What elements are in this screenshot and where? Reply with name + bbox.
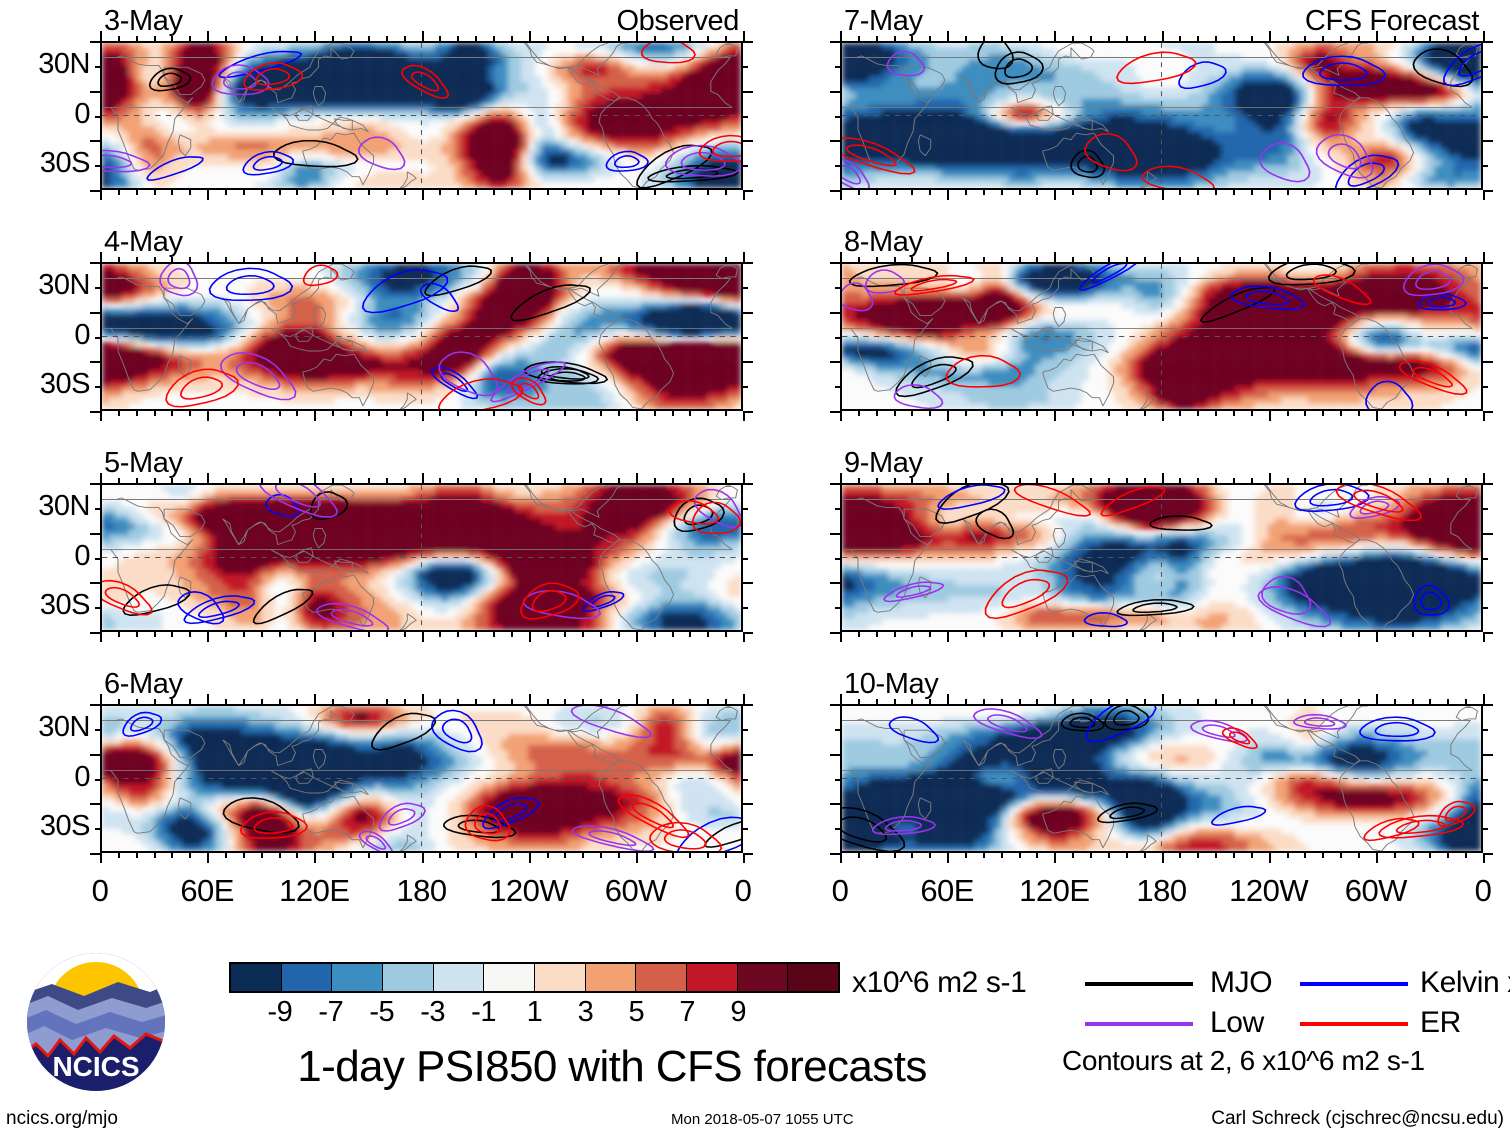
figure-title: 1-day PSI850 with CFS forecasts [212, 1042, 1012, 1092]
x-tick [582, 853, 584, 858]
x-tick [1179, 478, 1181, 483]
x-tick [929, 853, 931, 858]
x-tick [1144, 853, 1146, 858]
x-tick [564, 853, 566, 858]
x-tick [672, 190, 674, 195]
x-tick [1054, 632, 1056, 642]
x-tick [368, 699, 370, 704]
x-tick [1251, 853, 1253, 858]
x-tick [1483, 694, 1485, 704]
x-tick [1233, 478, 1235, 483]
y-tick [90, 312, 100, 314]
x-tick [1447, 699, 1449, 704]
x-tick [154, 632, 156, 637]
colorbar-segment [231, 964, 282, 991]
y-axis-tick-label: 0 [0, 540, 90, 573]
x-tick [1179, 699, 1181, 704]
x-tick [1394, 36, 1396, 41]
x-axis-tick-label: 120W [469, 873, 589, 909]
x-tick [840, 252, 842, 262]
x-tick [1394, 257, 1396, 262]
x-tick [947, 31, 949, 41]
x-tick [911, 853, 913, 858]
y-tick [1483, 41, 1493, 43]
x-tick [350, 478, 352, 483]
x-tick [689, 36, 691, 41]
x-tick [1465, 257, 1467, 262]
x-tick [1179, 853, 1181, 858]
x-tick [207, 853, 209, 863]
x-tick [1376, 694, 1378, 704]
x-tick [636, 190, 638, 200]
x-tick [136, 632, 138, 637]
x-tick [1287, 632, 1289, 637]
x-tick [422, 252, 424, 262]
map-panel [840, 704, 1483, 853]
x-tick [707, 411, 709, 416]
x-tick [1429, 853, 1431, 858]
x-tick [1197, 853, 1199, 858]
y-tick [90, 411, 100, 413]
y-tick [95, 337, 100, 339]
x-tick [243, 411, 245, 416]
x-tick [1322, 699, 1324, 704]
x-tick [1233, 853, 1235, 858]
y-tick [743, 262, 753, 264]
x-tick [1126, 411, 1128, 416]
x-tick [582, 257, 584, 262]
x-tick [189, 257, 191, 262]
y-axis-tick-label: 0 [0, 319, 90, 352]
x-tick [1197, 632, 1199, 637]
x-tick [672, 853, 674, 858]
x-tick [332, 853, 334, 858]
x-tick [100, 853, 102, 863]
x-tick [983, 632, 985, 637]
x-tick [1465, 36, 1467, 41]
colorbar-segment [586, 964, 637, 991]
y-tick [1483, 508, 1488, 510]
x-tick [947, 411, 949, 421]
x-tick [1001, 257, 1003, 262]
y-tick [835, 607, 840, 609]
y-tick [835, 779, 840, 781]
x-tick [1394, 190, 1396, 195]
x-tick [422, 411, 424, 421]
y-tick [95, 66, 100, 68]
x-tick [261, 411, 263, 416]
x-tick [439, 632, 441, 637]
x-tick [929, 478, 931, 483]
x-tick [1322, 257, 1324, 262]
x-tick [725, 190, 727, 195]
x-tick [1304, 36, 1306, 41]
x-tick [332, 411, 334, 416]
x-tick [350, 853, 352, 858]
x-tick [689, 257, 691, 262]
x-tick [457, 478, 459, 483]
y-tick [1483, 287, 1488, 289]
y-tick [743, 729, 748, 731]
x-tick [368, 411, 370, 416]
x-tick [600, 36, 602, 41]
x-tick [100, 252, 102, 262]
y-tick [90, 262, 100, 264]
y-tick [1483, 632, 1493, 634]
x-tick [1108, 853, 1110, 858]
x-tick [511, 478, 513, 483]
x-tick [1036, 853, 1038, 858]
y-tick [95, 508, 100, 510]
x-tick [475, 36, 477, 41]
x-tick [1269, 252, 1271, 262]
x-tick [547, 699, 549, 704]
x-tick [118, 257, 120, 262]
x-tick [136, 853, 138, 858]
x-tick [439, 478, 441, 483]
x-tick [965, 853, 967, 858]
x-tick [911, 36, 913, 41]
x-tick [894, 478, 896, 483]
x-tick [725, 632, 727, 637]
x-tick [1376, 632, 1378, 642]
y-tick [1483, 66, 1488, 68]
x-tick [296, 632, 298, 637]
x-tick [1072, 853, 1074, 858]
x-tick [1269, 694, 1271, 704]
x-tick [1412, 699, 1414, 704]
colorbar-segment [484, 964, 535, 991]
y-tick [1483, 262, 1493, 264]
x-tick [1215, 478, 1217, 483]
x-tick [725, 36, 727, 41]
x-tick [511, 190, 513, 195]
x-tick [1322, 190, 1324, 195]
panel-date-label: 7-May [844, 5, 923, 38]
x-tick [511, 411, 513, 416]
y-tick [830, 140, 840, 142]
x-tick [1358, 478, 1360, 483]
x-tick [457, 36, 459, 41]
x-axis-tick-label: 120E [254, 873, 374, 909]
y-tick [743, 558, 748, 560]
x-tick [1465, 190, 1467, 195]
x-tick [422, 853, 424, 863]
x-tick [1019, 411, 1021, 416]
footer-url[interactable]: ncics.org/mjo [6, 1108, 118, 1130]
y-tick [743, 607, 748, 609]
x-tick [547, 190, 549, 195]
x-tick [983, 853, 985, 858]
x-tick [189, 36, 191, 41]
x-tick [207, 694, 209, 704]
legend-line-swatch [1085, 1022, 1193, 1026]
x-tick [689, 632, 691, 637]
x-tick [1054, 473, 1056, 483]
colorbar-tick-label: 9 [698, 996, 778, 1029]
y-tick [90, 483, 100, 485]
x-tick [618, 257, 620, 262]
x-tick [171, 478, 173, 483]
x-tick [279, 36, 281, 41]
x-tick [672, 257, 674, 262]
x-tick [1304, 190, 1306, 195]
x-tick [1001, 190, 1003, 195]
x-tick [493, 411, 495, 416]
y-tick [1483, 754, 1493, 756]
x-tick [600, 411, 602, 416]
colorbar-segment [332, 964, 383, 991]
x-tick [1036, 36, 1038, 41]
x-tick [840, 31, 842, 41]
x-tick [689, 411, 691, 416]
x-tick [386, 853, 388, 858]
x-tick [296, 190, 298, 195]
x-tick [1054, 190, 1056, 200]
x-tick [1376, 473, 1378, 483]
x-tick [840, 694, 842, 704]
y-tick [90, 853, 100, 855]
x-axis-tick-label: 0 [780, 873, 900, 909]
x-tick [296, 853, 298, 858]
x-tick [171, 853, 173, 858]
x-tick [422, 694, 424, 704]
y-tick [830, 190, 840, 192]
y-tick [95, 386, 100, 388]
x-tick [529, 190, 531, 200]
x-tick [858, 190, 860, 195]
y-tick [830, 262, 840, 264]
x-tick [1019, 632, 1021, 637]
x-tick [189, 853, 191, 858]
x-tick [1126, 190, 1128, 195]
x-tick [386, 36, 388, 41]
x-tick [332, 632, 334, 637]
x-tick [1376, 190, 1378, 200]
x-tick [1304, 853, 1306, 858]
y-tick [830, 582, 840, 584]
x-tick [332, 699, 334, 704]
x-tick [279, 632, 281, 637]
x-tick [725, 853, 727, 858]
y-tick [95, 287, 100, 289]
x-tick [1447, 853, 1449, 858]
legend-line-swatch [1300, 982, 1408, 986]
x-tick [1001, 853, 1003, 858]
x-tick [564, 632, 566, 637]
x-tick [1340, 632, 1342, 637]
x-tick [1233, 411, 1235, 416]
x-tick [475, 257, 477, 262]
x-tick [858, 699, 860, 704]
x-tick [1090, 190, 1092, 195]
x-tick [618, 699, 620, 704]
x-tick [1108, 411, 1110, 416]
x-tick [1269, 853, 1271, 863]
x-tick [840, 632, 842, 642]
x-tick [1251, 190, 1253, 195]
x-tick [1269, 473, 1271, 483]
y-tick [90, 632, 100, 634]
y-tick [95, 116, 100, 118]
x-tick [911, 190, 913, 195]
x-tick [858, 36, 860, 41]
x-tick [136, 411, 138, 416]
x-tick [1287, 699, 1289, 704]
x-tick [368, 478, 370, 483]
x-tick [929, 257, 931, 262]
x-tick [404, 36, 406, 41]
x-axis-tick-label: 180 [1102, 873, 1222, 909]
x-tick [1090, 257, 1092, 262]
x-tick [243, 190, 245, 195]
x-tick [1429, 190, 1431, 195]
x-tick [261, 36, 263, 41]
y-tick [1483, 483, 1493, 485]
x-tick [707, 190, 709, 195]
x-tick [100, 473, 102, 483]
x-tick [1019, 853, 1021, 858]
x-tick [207, 31, 209, 41]
x-tick [404, 411, 406, 416]
x-tick [582, 190, 584, 195]
panel-date-label: 6-May [104, 668, 183, 701]
x-tick [689, 853, 691, 858]
x-tick [1144, 478, 1146, 483]
x-tick [529, 853, 531, 863]
x-tick [1233, 36, 1235, 41]
x-tick [1251, 632, 1253, 637]
y-tick [95, 779, 100, 781]
x-tick [618, 190, 620, 195]
x-tick [1394, 699, 1396, 704]
x-tick [600, 190, 602, 195]
y-axis-tick-label: 0 [0, 761, 90, 794]
x-tick [225, 36, 227, 41]
y-tick [743, 287, 748, 289]
x-tick [1054, 31, 1056, 41]
x-tick [1340, 36, 1342, 41]
ncics-logo-graphic: NCICS [22, 948, 170, 1096]
x-tick [404, 478, 406, 483]
x-tick [1269, 31, 1271, 41]
x-tick [1394, 853, 1396, 858]
x-tick [1429, 36, 1431, 41]
x-tick [314, 473, 316, 483]
y-tick [743, 312, 753, 314]
x-tick [332, 36, 334, 41]
ncics-logo: NCICS [22, 948, 170, 1096]
x-tick [911, 478, 913, 483]
x-tick [136, 478, 138, 483]
x-tick [547, 257, 549, 262]
x-tick [1108, 699, 1110, 704]
x-tick [600, 478, 602, 483]
y-tick [830, 632, 840, 634]
x-tick [876, 478, 878, 483]
x-tick [118, 478, 120, 483]
y-axis-tick-label: 30S [0, 810, 90, 843]
x-tick [207, 473, 209, 483]
x-tick [1251, 478, 1253, 483]
x-tick [1287, 853, 1289, 858]
x-tick [618, 478, 620, 483]
y-tick [1483, 190, 1493, 192]
y-tick [743, 66, 748, 68]
y-tick [743, 386, 748, 388]
x-tick [189, 478, 191, 483]
y-tick [90, 533, 100, 535]
x-tick [1287, 411, 1289, 416]
y-tick [743, 483, 753, 485]
x-tick [1162, 190, 1164, 200]
x-tick [1304, 632, 1306, 637]
footer-timestamp: Mon 2018-05-07 1055 UTC [671, 1111, 854, 1128]
x-tick [965, 632, 967, 637]
x-tick [1447, 257, 1449, 262]
x-tick [154, 853, 156, 858]
y-tick [743, 632, 753, 634]
x-tick [965, 257, 967, 262]
x-tick [1483, 473, 1485, 483]
y-tick [1483, 828, 1488, 830]
panel-date-label: 10-May [844, 668, 938, 701]
x-tick [493, 190, 495, 195]
x-tick [1001, 36, 1003, 41]
x-tick [1322, 853, 1324, 858]
x-tick [1036, 190, 1038, 195]
x-tick [1108, 190, 1110, 195]
x-tick [894, 699, 896, 704]
x-tick [511, 257, 513, 262]
x-tick [314, 252, 316, 262]
x-tick [1126, 257, 1128, 262]
x-tick [965, 36, 967, 41]
y-tick [95, 607, 100, 609]
x-tick [1162, 252, 1164, 262]
x-tick [1304, 478, 1306, 483]
x-tick [243, 632, 245, 637]
x-tick [1179, 411, 1181, 416]
x-tick [894, 190, 896, 195]
y-tick [830, 704, 840, 706]
x-tick [1144, 36, 1146, 41]
y-tick [830, 853, 840, 855]
x-tick [296, 699, 298, 704]
x-tick [118, 36, 120, 41]
x-tick [1287, 257, 1289, 262]
x-tick [511, 632, 513, 637]
y-tick [743, 116, 748, 118]
x-tick [840, 853, 842, 863]
y-tick [90, 803, 100, 805]
y-tick [1483, 729, 1488, 731]
x-tick [404, 632, 406, 637]
y-tick [1483, 165, 1488, 167]
x-tick [475, 478, 477, 483]
x-tick [947, 190, 949, 200]
x-tick [1429, 478, 1431, 483]
x-tick [261, 853, 263, 858]
x-tick [1269, 632, 1271, 642]
x-tick [1322, 632, 1324, 637]
x-tick [225, 478, 227, 483]
x-tick [947, 694, 949, 704]
x-tick [672, 699, 674, 704]
x-tick [493, 36, 495, 41]
x-tick [154, 478, 156, 483]
y-tick [1483, 803, 1493, 805]
